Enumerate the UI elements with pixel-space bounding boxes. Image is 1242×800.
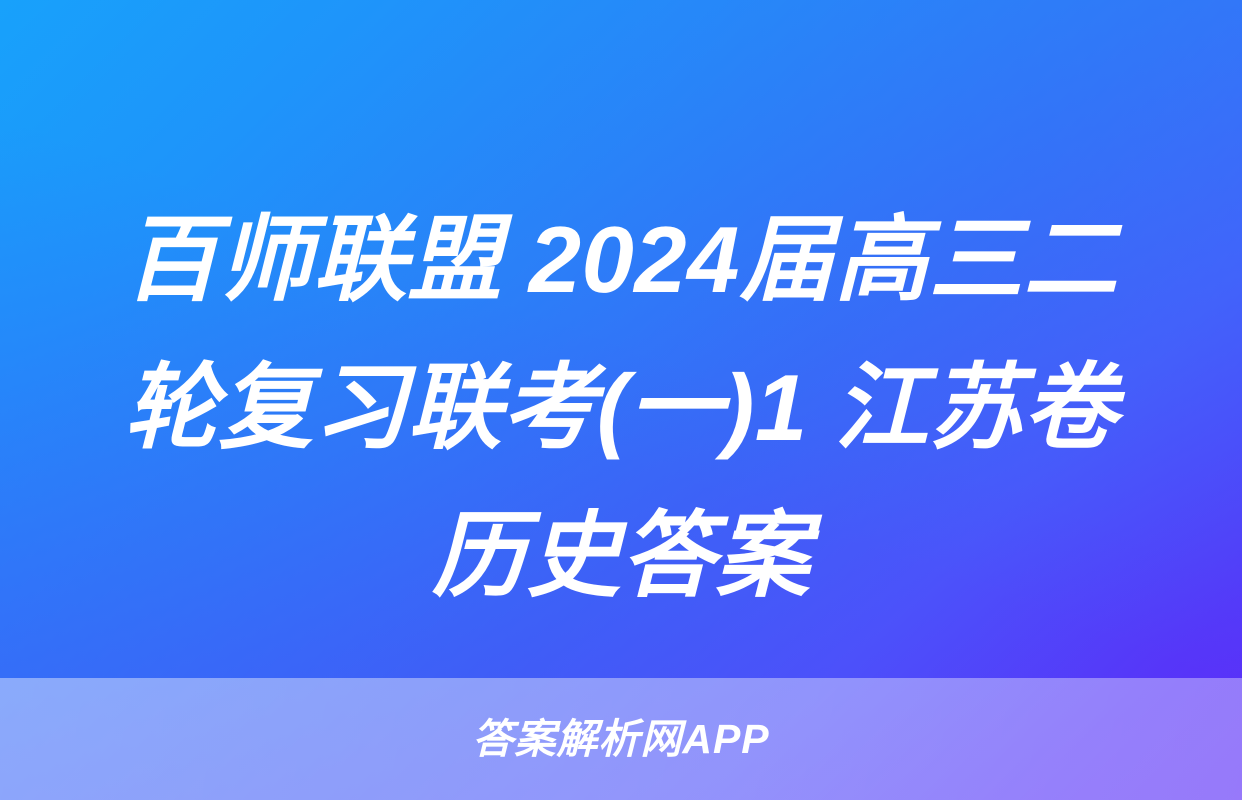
title-line-1: 百师联盟 2024届高三二 — [58, 186, 1184, 334]
answer-poster-card: 百师联盟 2024届高三二 轮复习联考(一)1 江苏卷 历史答案 答案解析网AP… — [0, 0, 1242, 800]
title-line-3: 历史答案 — [58, 482, 1184, 630]
page-title: 百师联盟 2024届高三二 轮复习联考(一)1 江苏卷 历史答案 — [0, 186, 1242, 630]
app-watermark-label: 答案解析网APP — [472, 719, 769, 760]
footer-watermark-band: 答案解析网APP — [0, 678, 1242, 800]
title-line-2: 轮复习联考(一)1 江苏卷 — [58, 334, 1184, 482]
